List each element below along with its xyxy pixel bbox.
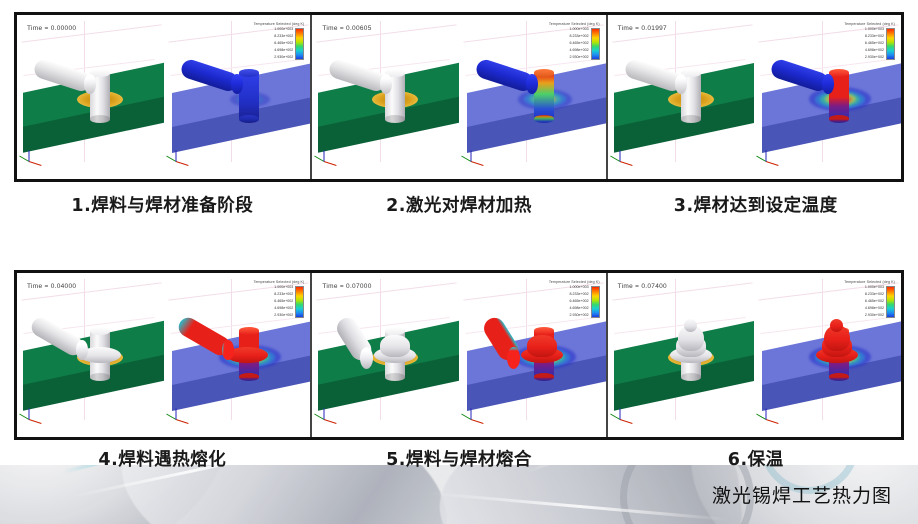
legend-tick-5: 2.930e+002 (274, 314, 293, 318)
axis-triad (471, 409, 497, 429)
legend-tick-labels: 1.000e+0038.233e+0026.465e+0024.698e+002… (865, 286, 884, 318)
legend-title: Temperature Selected (deg K) (516, 280, 600, 284)
axis-triad (471, 151, 497, 171)
axis-z (619, 409, 620, 420)
legend-tick-labels: 1.000e+0038.233e+0026.465e+0024.698e+002… (570, 286, 589, 318)
molten-solder-fillet (527, 335, 557, 357)
solder-wire-endcap (822, 74, 834, 94)
legend-tick-5: 2.930e+002 (865, 314, 884, 318)
legend-tick-1: 1.000e+003 (570, 28, 589, 32)
legend-tick-3: 6.465e+002 (274, 42, 293, 46)
legend-title: Temperature Selected (deg K) (811, 22, 895, 26)
axis-z (175, 151, 176, 162)
legend-tick-4: 4.698e+002 (274, 307, 293, 311)
solder-wire-endcap (231, 74, 243, 94)
molten-solder-fillet (380, 335, 410, 357)
legend-title: Temperature Selected (deg K) (220, 22, 304, 26)
axis-x (29, 419, 42, 424)
legend-colorbar (591, 286, 600, 318)
legend-tick-2: 8.233e+002 (865, 293, 884, 297)
legend-tick-labels: 1.000e+0038.233e+0026.465e+0024.698e+002… (274, 28, 293, 60)
axis-x (176, 419, 189, 424)
legend-tick-labels: 1.000e+0038.233e+0026.465e+0024.698e+002… (865, 28, 884, 60)
footer-title: 激光锡焊工艺热力图 (712, 481, 892, 508)
panel-caption-1: 1.焊料与焊材准备阶段 (14, 192, 311, 217)
axis-z (766, 409, 767, 420)
temperature-legend: Temperature Selected (deg K)1.000e+0038.… (516, 280, 600, 318)
axis-z (29, 409, 30, 420)
axis-triad (29, 409, 55, 429)
pin-bottom-left-1 (90, 115, 110, 122)
panel-2-geometry-view: Time = 0.00605 (312, 15, 459, 179)
pin-bottom-right-2 (534, 115, 554, 122)
simulation-panel-1: Time = 0.00000Temperature Selected (deg … (17, 15, 310, 179)
axis-triad (176, 151, 202, 171)
legend-tick-4: 4.698e+002 (570, 49, 589, 53)
panel-6-time-label: Time = 0.07400 (618, 283, 667, 290)
legend-body: 1.000e+0038.233e+0026.465e+0024.698e+002… (220, 286, 304, 318)
axis-x (471, 419, 484, 424)
legend-colorbar (886, 28, 895, 60)
legend-tick-labels: 1.000e+0038.233e+0026.465e+0024.698e+002… (274, 286, 293, 318)
legend-colorbar (295, 286, 304, 318)
legend-tick-4: 4.698e+002 (274, 49, 293, 53)
pin-bottom-right-6 (829, 373, 849, 380)
panel-3-thermal-view: Temperature Selected (deg K)1.000e+0038.… (754, 15, 901, 179)
axis-triad (766, 409, 792, 429)
panel-6-thermal-view: Temperature Selected (deg K)1.000e+0038.… (754, 273, 901, 437)
legend-tick-3: 6.465e+002 (570, 300, 589, 304)
axis-x (766, 419, 779, 424)
legend-title: Temperature Selected (deg K) (811, 280, 895, 284)
pin-top-right-1 (239, 69, 259, 76)
legend-title: Temperature Selected (deg K) (220, 280, 304, 284)
solder-wire-endcap (507, 347, 520, 369)
legend-body: 1.000e+0038.233e+0026.465e+0024.698e+002… (811, 286, 895, 318)
panel-5-geometry-view: Time = 0.07000 (312, 273, 459, 437)
legend-tick-1: 1.000e+003 (274, 286, 293, 290)
pin-bottom-left-3 (681, 115, 701, 122)
axis-triad (324, 409, 350, 429)
panel-3-time-label: Time = 0.01997 (618, 25, 667, 32)
pin-bottom-left-6 (681, 373, 701, 380)
legend-colorbar (886, 286, 895, 318)
pin-top-right-4 (239, 327, 259, 334)
temperature-legend: Temperature Selected (deg K)1.000e+0038.… (220, 22, 304, 60)
axis-x (176, 161, 189, 166)
pin-top-left-4 (90, 327, 110, 334)
legend-body: 1.000e+0038.233e+0026.465e+0024.698e+002… (516, 28, 600, 60)
axis-z (175, 409, 176, 420)
temperature-legend: Temperature Selected (deg K)1.000e+0038.… (516, 22, 600, 60)
legend-tick-labels: 1.000e+0038.233e+0026.465e+0024.698e+002… (570, 28, 589, 60)
legend-tick-1: 1.000e+003 (274, 28, 293, 32)
caption-row-top: 1.焊料与焊材准备阶段 2.激光对焊材加热 3.焊材达到设定温度 (14, 192, 904, 217)
panel-4-thermal-view: Temperature Selected (deg K)1.000e+0038.… (164, 273, 311, 437)
axis-triad (766, 151, 792, 171)
panel-4-geometry-view: Time = 0.04000 (17, 273, 164, 437)
panel-6-geometry-view: Time = 0.07400 (608, 273, 755, 437)
panel-2-thermal-view: Temperature Selected (deg K)1.000e+0038.… (459, 15, 606, 179)
axis-y (610, 414, 620, 420)
temperature-legend: Temperature Selected (deg K)1.000e+0038.… (811, 280, 895, 318)
legend-tick-3: 6.465e+002 (865, 300, 884, 304)
solder-wire-endcap (675, 74, 687, 94)
axis-z (766, 151, 767, 162)
panel-caption-5: 5.焊料与焊材熔合 (311, 446, 608, 471)
legend-tick-4: 4.698e+002 (570, 307, 589, 311)
panel-caption-3: 3.焊材达到设定温度 (607, 192, 904, 217)
panel-3-geometry-view: Time = 0.01997 (608, 15, 755, 179)
simulation-panel-4: Time = 0.04000Temperature Selected (deg … (17, 273, 310, 437)
axis-z (324, 409, 325, 420)
temperature-legend: Temperature Selected (deg K)1.000e+0038.… (811, 22, 895, 60)
temperature-legend: Temperature Selected (deg K)1.000e+0038.… (220, 280, 304, 318)
pin-bottom-right-1 (239, 115, 259, 122)
legend-tick-2: 8.233e+002 (274, 35, 293, 39)
axis-triad (620, 409, 646, 429)
panel-5-thermal-view: Temperature Selected (deg K)1.000e+0038.… (459, 273, 606, 437)
solder-wire-endcap (380, 74, 392, 94)
axis-x (471, 161, 484, 166)
axis-x (29, 161, 42, 166)
panel-2-time-label: Time = 0.00605 (322, 25, 371, 32)
axis-triad (176, 409, 202, 429)
panel-5-time-label: Time = 0.07000 (322, 283, 371, 290)
legend-tick-4: 4.698e+002 (865, 49, 884, 53)
legend-tick-3: 6.465e+002 (570, 42, 589, 46)
caption-row-bottom: 4.焊料遇热熔化 5.焊料与焊材熔合 6.保温 (14, 446, 904, 471)
axis-triad (324, 151, 350, 171)
legend-tick-1: 1.000e+003 (865, 28, 884, 32)
axis-z (324, 151, 325, 162)
axis-z (619, 151, 620, 162)
legend-body: 1.000e+0038.233e+0026.465e+0024.698e+002… (220, 28, 304, 60)
axis-x (620, 419, 633, 424)
panel-1-thermal-view: Temperature Selected (deg K)1.000e+0038.… (164, 15, 311, 179)
pin-top-right-3 (829, 69, 849, 76)
pin-bottom-right-4 (239, 373, 259, 380)
legend-tick-2: 8.233e+002 (274, 293, 293, 297)
legend-body: 1.000e+0038.233e+0026.465e+0024.698e+002… (516, 286, 600, 318)
simulation-panel-5: Time = 0.07000Temperature Selected (deg … (310, 273, 605, 437)
axis-x (324, 419, 337, 424)
panel-1-geometry-view: Time = 0.00000 (17, 15, 164, 179)
legend-tick-5: 2.930e+002 (570, 314, 589, 318)
legend-tick-3: 6.465e+002 (274, 300, 293, 304)
simulation-row-top: Time = 0.00000Temperature Selected (deg … (14, 12, 904, 182)
axis-x (324, 161, 337, 166)
legend-tick-5: 2.930e+002 (274, 56, 293, 60)
axis-y (610, 156, 620, 162)
panel-caption-6: 6.保温 (607, 446, 904, 471)
legend-body: 1.000e+0038.233e+0026.465e+0024.698e+002… (811, 28, 895, 60)
solder-joint-tip (684, 319, 697, 332)
legend-colorbar (295, 28, 304, 60)
legend-tick-2: 8.233e+002 (570, 293, 589, 297)
pin-bottom-right-3 (829, 115, 849, 122)
solder-wire-endcap (76, 340, 88, 360)
legend-tick-4: 4.698e+002 (865, 307, 884, 311)
axis-triad (620, 151, 646, 171)
legend-tick-5: 2.930e+002 (570, 56, 589, 60)
axis-x (620, 161, 633, 166)
legend-tick-2: 8.233e+002 (570, 35, 589, 39)
pin-bottom-right-5 (534, 373, 554, 380)
axis-z (29, 151, 30, 162)
axis-y (166, 156, 176, 162)
legend-tick-5: 2.930e+002 (865, 56, 884, 60)
legend-title: Temperature Selected (deg K) (516, 22, 600, 26)
legend-tick-2: 8.233e+002 (865, 35, 884, 39)
axis-x (766, 161, 779, 166)
axis-y (166, 414, 176, 420)
axis-triad (29, 151, 55, 171)
pin-bottom-left-2 (385, 115, 405, 122)
pin-bottom-left-4 (90, 373, 110, 380)
panel-caption-4: 4.焊料遇热熔化 (14, 446, 311, 471)
pin-top-right-5 (534, 327, 554, 334)
simulation-row-bottom: Time = 0.04000Temperature Selected (deg … (14, 270, 904, 440)
axis-z (470, 151, 471, 162)
panel-1-time-label: Time = 0.00000 (27, 25, 76, 32)
legend-tick-1: 1.000e+003 (570, 286, 589, 290)
simulation-panel-6: Time = 0.07400Temperature Selected (deg … (606, 273, 901, 437)
axis-z (470, 409, 471, 420)
legend-tick-3: 6.465e+002 (865, 42, 884, 46)
panel-4-time-label: Time = 0.04000 (27, 283, 76, 290)
pin-top-left-5 (385, 327, 405, 334)
panel-caption-2: 2.激光对焊材加热 (311, 192, 608, 217)
simulation-panel-3: Time = 0.01997Temperature Selected (deg … (606, 15, 901, 179)
pin-top-right-2 (534, 69, 554, 76)
pin-bottom-left-5 (385, 373, 405, 380)
legend-tick-1: 1.000e+003 (865, 286, 884, 290)
legend-colorbar (591, 28, 600, 60)
simulation-panel-2: Time = 0.00605Temperature Selected (deg … (310, 15, 605, 179)
